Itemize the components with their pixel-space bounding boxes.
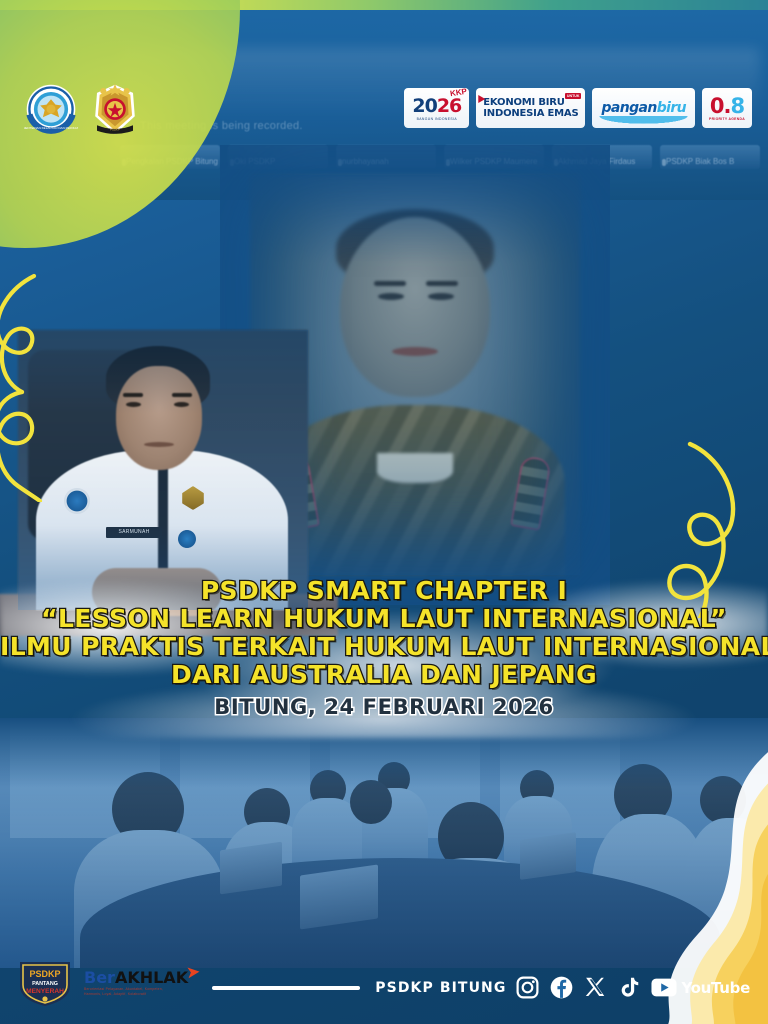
biru-word: biru <box>657 100 686 116</box>
berakhlak-logo: BerAKHLAK ➤ Berorientasi Pelayanan, Akun… <box>84 970 188 997</box>
footer-social-group: PSDKP BITUNG YouTube <box>212 975 750 1000</box>
digit-zero: 0. <box>710 94 731 118</box>
pangan-word: pangan <box>601 100 656 116</box>
year-prefix: 20 <box>412 95 436 117</box>
kkp-2026-kkp-text: KKP <box>450 87 468 99</box>
title-line-4: DARI AUSTRALIA DAN JEPANG <box>0 662 768 688</box>
svg-text:KEMENTERIAN KELAUTAN DAN PERIK: KEMENTERIAN KELAUTAN DAN PERIKANAN <box>24 126 78 130</box>
title-line-1: PSDKP SMART CHAPTER I <box>0 578 768 604</box>
year-suffix: 26 <box>437 95 461 117</box>
footer-rule <box>212 986 360 990</box>
vc-tile[interactable]: PSDKP Biak Bos B <box>660 145 760 169</box>
youtube-label: YouTube <box>681 979 750 997</box>
title-line-3: ILMU PRAKTIS TERKAIT HUKUM LAUT INTERNAS… <box>0 634 768 660</box>
wave-graphic <box>592 116 695 125</box>
berakhlak-sub2: Harmonis, Loyal, Adaptif, Kolaboratif <box>84 993 188 996</box>
vc-participant-name: PSDKP Biak Bos B <box>666 157 734 166</box>
ekonomi-biru-logo: UNTUK EKONOMI BIRU INDONESIA EMAS <box>476 88 585 128</box>
untuk-tag: UNTUK <box>565 93 582 99</box>
svg-text:PANTANG: PANTANG <box>32 981 58 987</box>
kkp-2026-logo: KKP 2026 BANGUN INDONESIA <box>404 88 469 128</box>
x-twitter-icon[interactable] <box>583 975 608 1000</box>
kkp-emblem: KEMENTERIAN KELAUTAN DAN PERIKANAN <box>24 82 78 138</box>
psdkp-emblem: PSDKP <box>88 82 142 138</box>
campaign-logos: KKP 2026 BANGUN INDONESIA UNTUK EKONOMI … <box>404 88 752 128</box>
nol-delapan-digits: 0.8 <box>710 96 744 117</box>
berakhlak-sub1: Berorientasi Pelayanan, Akuntabel, Kompe… <box>84 988 188 991</box>
kkp-2026-tagline: BANGUN INDONESIA <box>417 117 458 121</box>
footer-logos: PSDKP PANTANG MENYERAH BerAKHLAK ➤ Beror… <box>16 958 188 1008</box>
footer-bar: PSDKP PANTANG MENYERAH BerAKHLAK ➤ Beror… <box>0 948 768 1024</box>
tiktok-icon[interactable] <box>617 975 642 1000</box>
kkp-2026-year: 2026 <box>412 97 461 116</box>
berakhlak-main: AKHLAK <box>115 968 188 987</box>
pangan-biru-logo: panganbiru <box>592 88 695 128</box>
ekonomi-biru-line2: INDONESIA EMAS <box>483 108 578 119</box>
decorative-swirl-left <box>0 272 84 502</box>
berakhlak-wordmark: BerAKHLAK <box>84 970 188 986</box>
nol-delapan-sub: PRIORITY AGENDA <box>709 117 745 121</box>
svg-text:PSDKP: PSDKP <box>110 127 120 131</box>
berakhlak-arrow-icon: ➤ <box>186 964 200 980</box>
poster-canvas: This meeting is being recorded. Pengkala… <box>0 0 768 1024</box>
facebook-icon[interactable] <box>549 975 574 1000</box>
event-date: BITUNG, 24 FEBRUARI 2026 <box>0 695 768 719</box>
nol-delapan-logo: 0.8 PRIORITY AGENDA <box>702 88 752 128</box>
svg-text:PSDKP: PSDKP <box>29 969 60 979</box>
social-handle: PSDKP BITUNG <box>375 980 506 996</box>
header-emblems: KEMENTERIAN KELAUTAN DAN PERIKANAN PSDKP <box>24 82 142 138</box>
title-line-2: “LESSON LEARN HUKUM LAUT INTERNASIONAL” <box>0 606 768 632</box>
svg-text:MENYERAH: MENYERAH <box>26 988 64 995</box>
berakhlak-prefix: Ber <box>84 968 115 987</box>
digit-eight: 8 <box>731 94 745 118</box>
pangan-biru-text: panganbiru <box>601 100 686 116</box>
title-block: PSDKP SMART CHAPTER I “LESSON LEARN HUKU… <box>0 578 768 719</box>
ekonomi-biru-line1: EKONOMI BIRU <box>483 97 578 108</box>
psdkp-pantang-menyerah-badge: PSDKP PANTANG MENYERAH <box>16 958 74 1008</box>
youtube-icon[interactable]: YouTube <box>651 978 750 997</box>
instagram-icon[interactable] <box>515 975 540 1000</box>
